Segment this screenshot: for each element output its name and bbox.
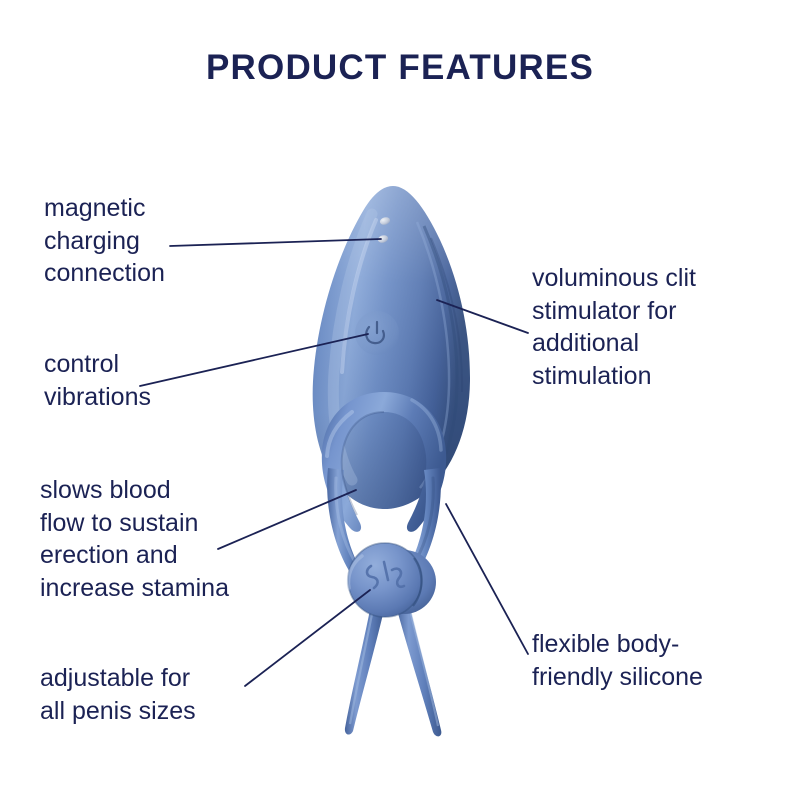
product-features-infographic: PRODUCT FEATURES (0, 0, 800, 800)
control-button[interactable] (355, 311, 399, 355)
strap-left (345, 600, 385, 735)
strap-right (396, 600, 441, 736)
product-illustration (0, 0, 800, 800)
